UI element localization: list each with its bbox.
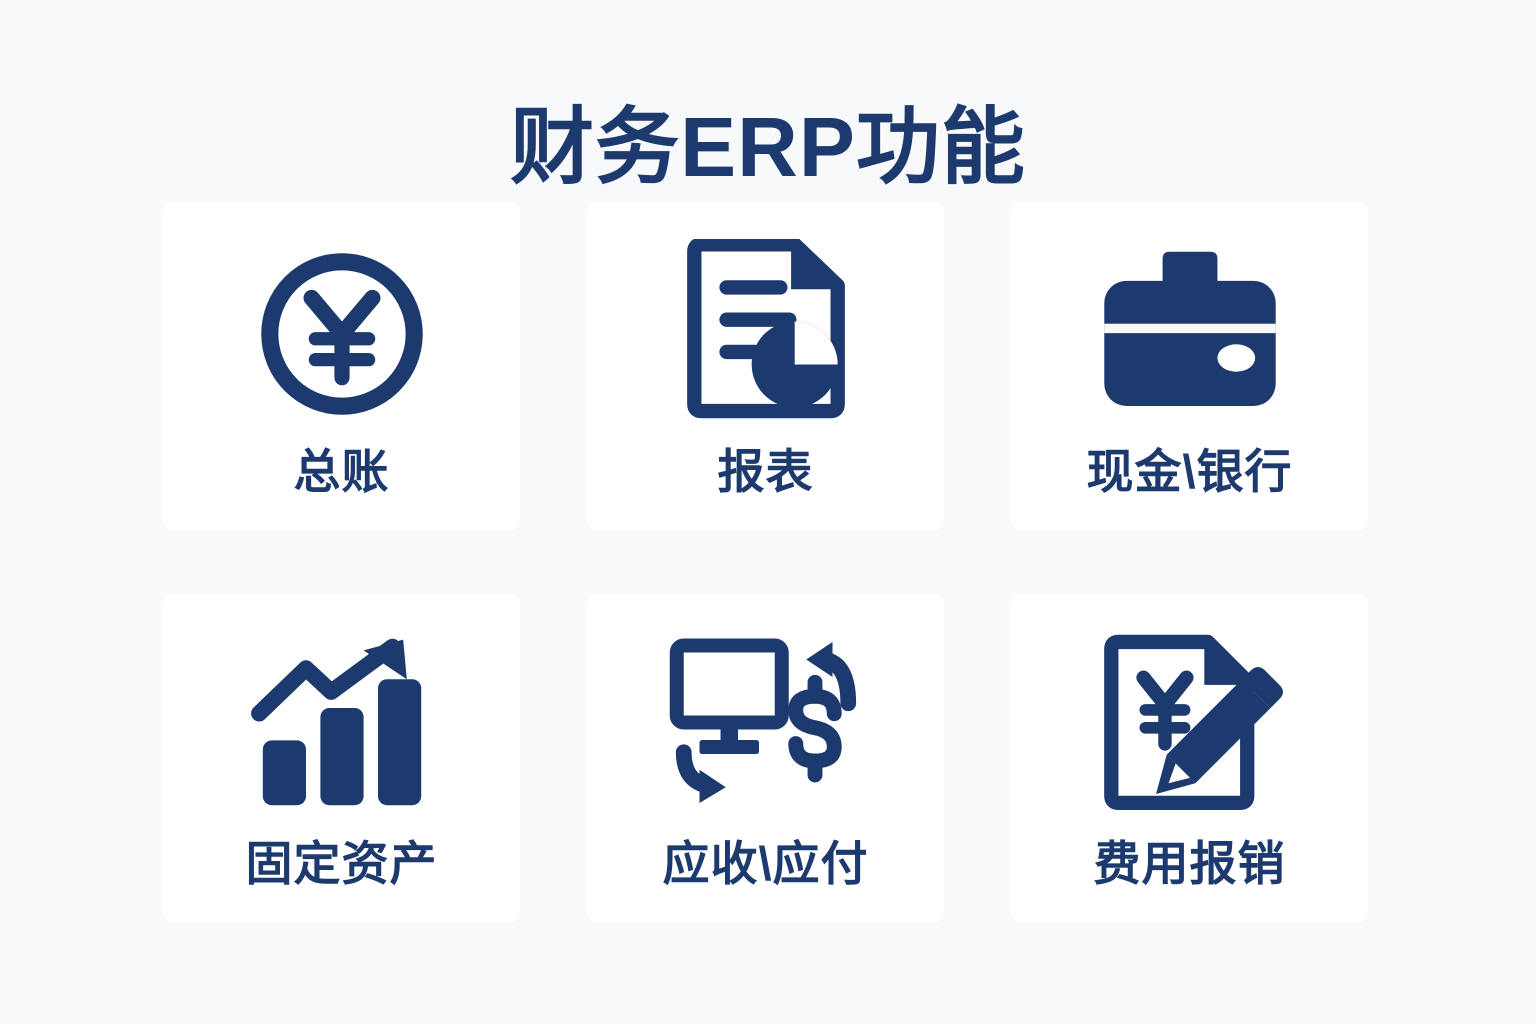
wallet-icon (1085, 236, 1295, 432)
invoice-pencil-icon (1085, 628, 1295, 824)
page-root: 财务ERP功能 总账 (0, 0, 1536, 1024)
feature-card-fixed-assets[interactable]: 固定资产 (163, 594, 520, 922)
feature-card-cash-bank[interactable]: 现金\银行 (1011, 202, 1368, 530)
feature-card-label: 费用报销 (1094, 838, 1286, 890)
feature-card-label: 总账 (294, 446, 390, 498)
feature-card-receivable-payable[interactable]: 应收\应付 (587, 594, 944, 922)
monitor-dollar-exchange-icon (661, 628, 871, 824)
feature-card-label: 固定资产 (246, 838, 438, 890)
page-title: 财务ERP功能 (0, 100, 1536, 194)
yuan-coin-icon (237, 236, 447, 432)
document-pie-chart-icon (661, 236, 871, 432)
feature-card-label: 应收\应付 (662, 838, 868, 890)
feature-card-expense-reimbursement[interactable]: 费用报销 (1011, 594, 1368, 922)
feature-card-grid: 总账 报表 (163, 202, 1371, 922)
feature-card-reports[interactable]: 报表 (587, 202, 944, 530)
feature-card-general-ledger[interactable]: 总账 (163, 202, 520, 530)
feature-card-label: 报表 (718, 446, 814, 498)
feature-card-label: 现金\银行 (1086, 446, 1292, 498)
growth-chart-icon (237, 628, 447, 824)
